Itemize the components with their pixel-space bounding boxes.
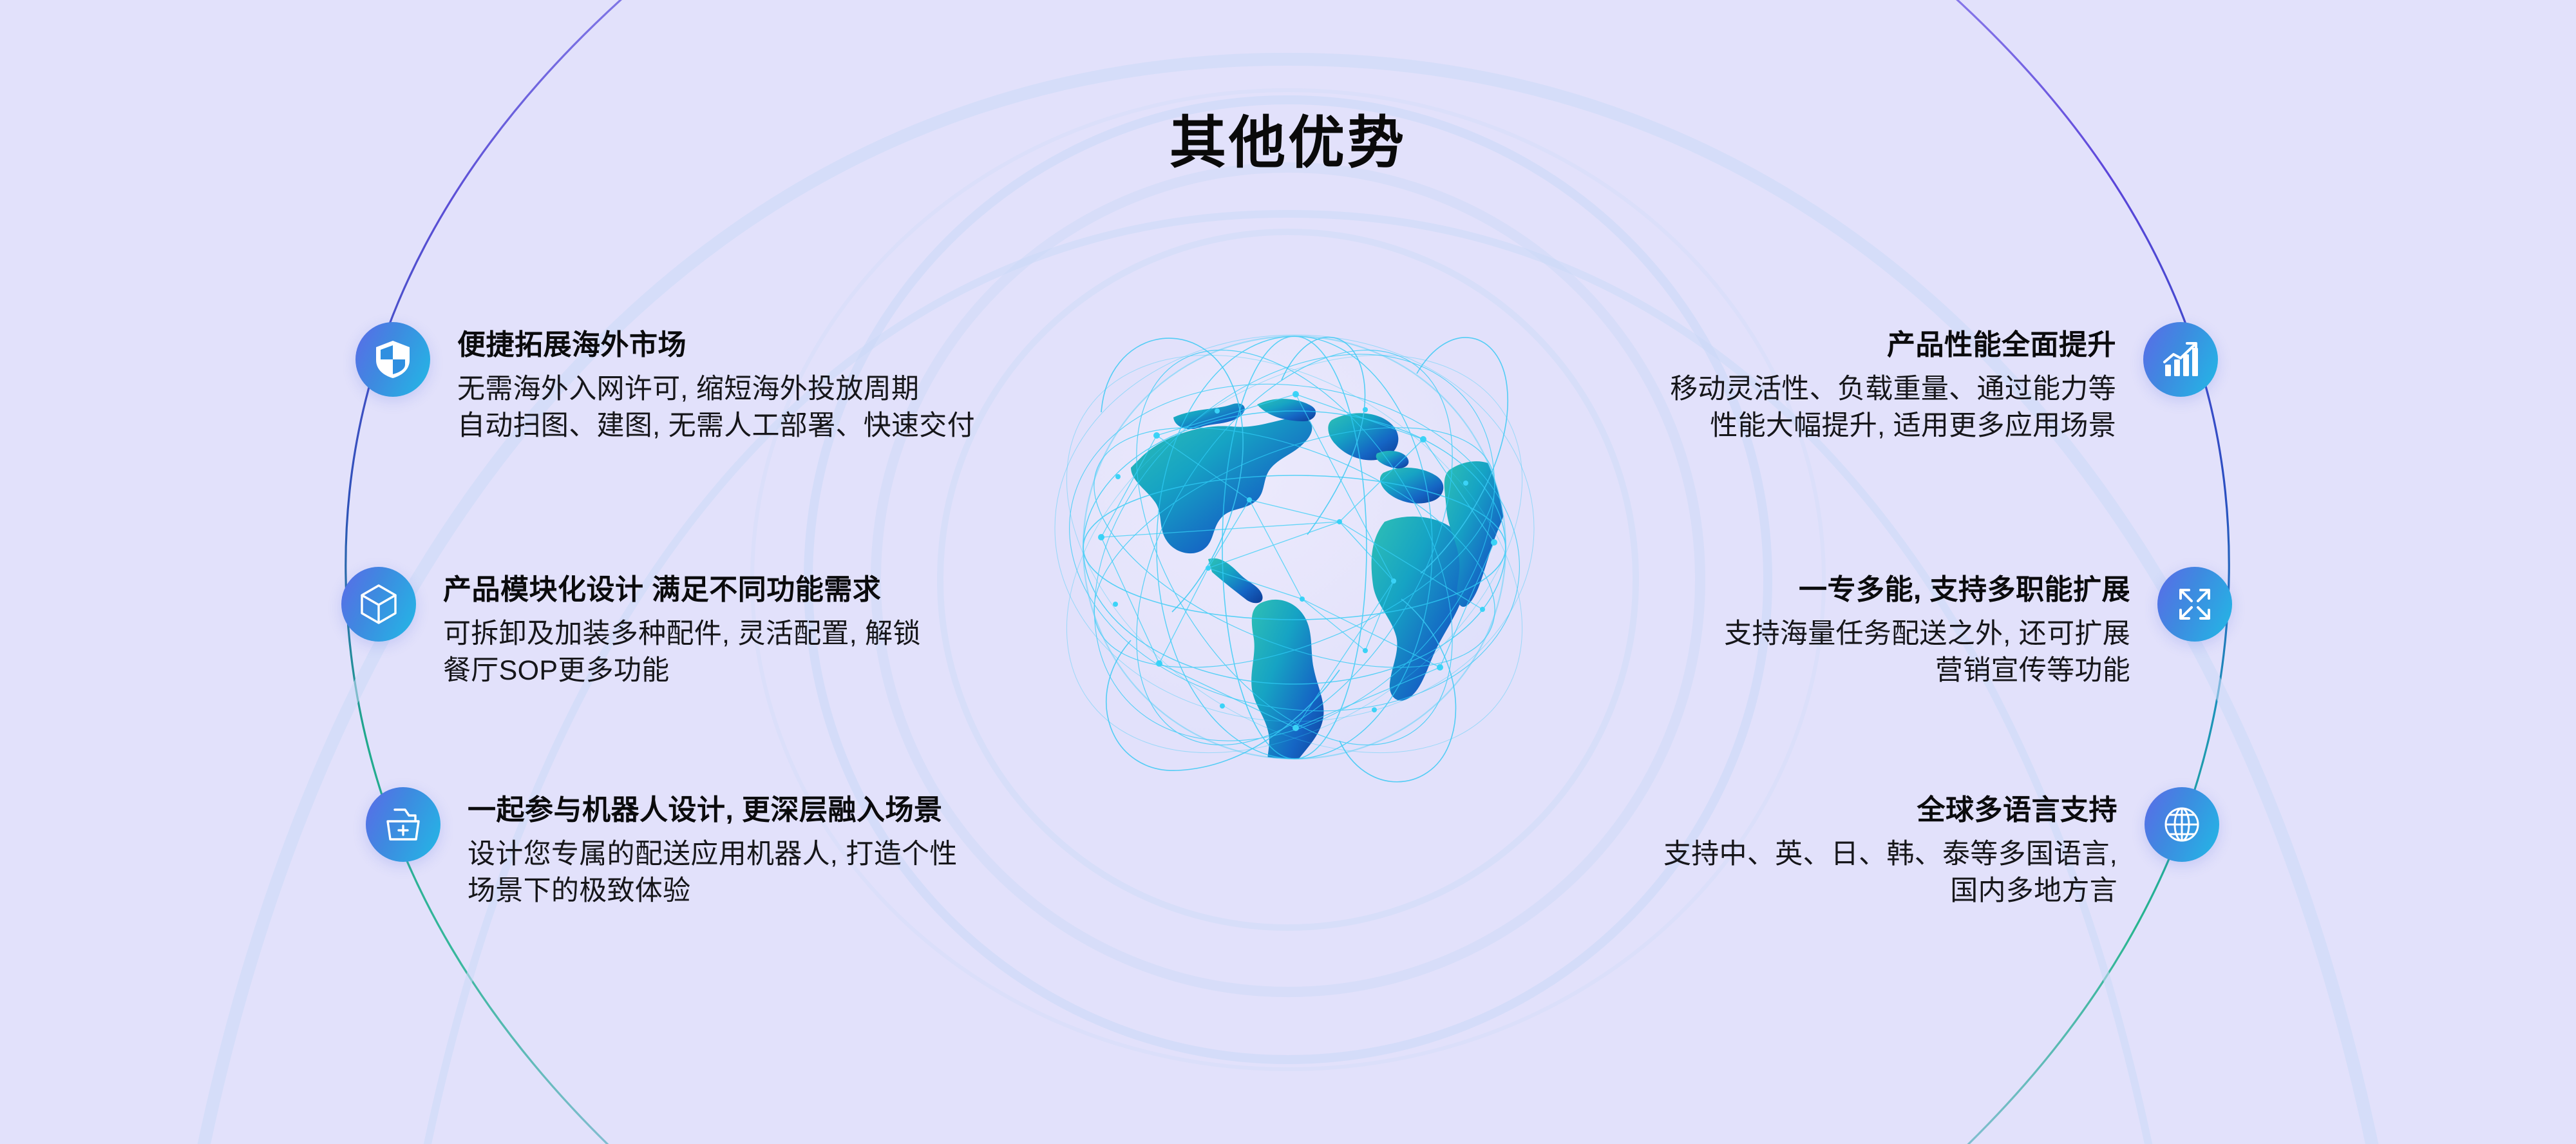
feature-line: 营销宣传等功能 [1724, 653, 2130, 689]
feature-item-left-1[interactable]: 便捷拓展海外市场 无需海外入网许可, 缩短海外投放周期 自动扫图、建图, 无需人… [355, 322, 975, 444]
feature-line: 设计您专属的配送应用机器人, 打造个性 [468, 836, 958, 873]
feature-text-left-1: 便捷拓展海外市场 无需海外入网许可, 缩短海外投放周期 自动扫图、建图, 无需人… [457, 322, 975, 444]
expand-arrows-icon [2157, 567, 2232, 642]
feature-heading: 全球多语言支持 [1663, 794, 2117, 827]
feature-line: 自动扫图、建图, 无需人工部署、快速交付 [457, 408, 975, 444]
feature-line: 场景下的极致体验 [468, 873, 958, 910]
page-title: 其他优势 [0, 115, 2576, 171]
feature-item-right-2[interactable]: 一专多能, 支持多职能扩展 支持海量任务配送之外, 还可扩展 营销宣传等功能 [1724, 567, 2232, 689]
folder-plus-icon [366, 787, 440, 862]
feature-heading: 产品性能全面提升 [1670, 329, 2116, 362]
network-globe-illustration [1005, 251, 1584, 844]
feature-heading: 一起参与机器人设计, 更深层融入场景 [468, 794, 958, 827]
feature-item-right-3[interactable]: 全球多语言支持 支持中、英、日、韩、泰等多国语言, 国内多地方言 [1663, 787, 2219, 910]
feature-line: 无需海外入网许可, 缩短海外投放周期 [457, 371, 975, 408]
feature-line: 移动灵活性、负载重量、通过能力等 [1670, 371, 2116, 408]
advantages-infographic: 其他优势 [0, 0, 2576, 1144]
feature-text-right-2: 一专多能, 支持多职能扩展 支持海量任务配送之外, 还可扩展 营销宣传等功能 [1724, 567, 2130, 689]
shield-icon [355, 322, 430, 397]
feature-item-left-2[interactable]: 产品模块化设计 满足不同功能需求 可拆卸及加装多种配件, 灵活配置, 解锁 餐厅… [341, 567, 921, 689]
feature-line: 支持海量任务配送之外, 还可扩展 [1724, 616, 2130, 653]
feature-item-right-1[interactable]: 产品性能全面提升 移动灵活性、负载重量、通过能力等 性能大幅提升, 适用更多应用… [1670, 322, 2218, 444]
feature-text-right-3: 全球多语言支持 支持中、英、日、韩、泰等多国语言, 国内多地方言 [1663, 787, 2117, 910]
feature-line: 可拆卸及加装多种配件, 灵活配置, 解锁 [443, 616, 921, 653]
feature-heading: 产品模块化设计 满足不同功能需求 [443, 573, 921, 607]
feature-line: 支持中、英、日、韩、泰等多国语言, [1663, 836, 2117, 873]
feature-text-left-3: 一起参与机器人设计, 更深层融入场景 设计您专属的配送应用机器人, 打造个性 场… [468, 787, 958, 910]
feature-line: 国内多地方言 [1663, 873, 2117, 910]
feature-heading: 一专多能, 支持多职能扩展 [1724, 573, 2130, 607]
feature-item-left-3[interactable]: 一起参与机器人设计, 更深层融入场景 设计您专属的配送应用机器人, 打造个性 场… [366, 787, 958, 910]
globe-icon [2145, 787, 2219, 862]
feature-text-right-1: 产品性能全面提升 移动灵活性、负载重量、通过能力等 性能大幅提升, 适用更多应用… [1670, 322, 2116, 444]
feature-line: 餐厅SOP更多功能 [443, 653, 921, 689]
feature-heading: 便捷拓展海外市场 [457, 329, 975, 362]
feature-text-left-2: 产品模块化设计 满足不同功能需求 可拆卸及加装多种配件, 灵活配置, 解锁 餐厅… [443, 567, 921, 689]
cube-icon [341, 567, 416, 642]
feature-line: 性能大幅提升, 适用更多应用场景 [1670, 408, 2116, 444]
growth-chart-icon [2143, 322, 2218, 397]
